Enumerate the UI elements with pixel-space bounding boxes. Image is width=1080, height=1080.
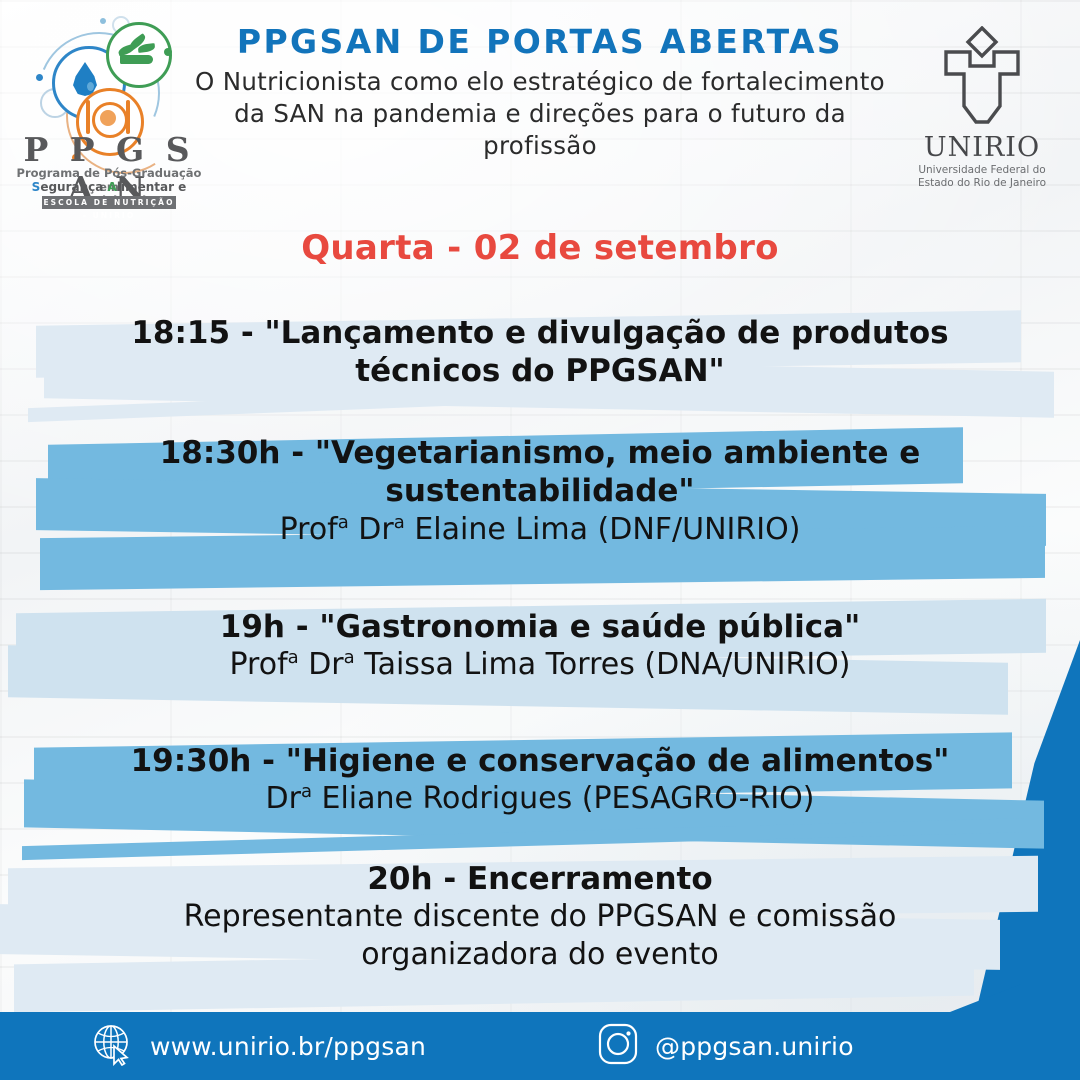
- plant-leaf-icon: [118, 36, 156, 68]
- instagram-label: @ppgsan.unirio: [655, 1032, 854, 1061]
- schedule-item-speaker: Profa Dra Taissa Lima Torres (DNA/UNIRIO…: [90, 646, 990, 683]
- schedule-item-speaker: Profa Dra Elaine Lima (DNF/UNIRIO): [90, 511, 990, 548]
- schedule-item-title: 18:30h - "Vegetarianismo, meio ambiente …: [90, 434, 990, 472]
- schedule-item: 18:15 - "Lançamento e divulgação de prod…: [0, 300, 1080, 426]
- schedule-item-text: 20h - EncerramentoRepresentante discente…: [90, 852, 990, 973]
- schedule-item-speaker: Dra Eliane Rodrigues (PESAGRO-RIO): [90, 780, 990, 817]
- event-poster: P P G S A N Programa de Pós-Graduação em…: [0, 0, 1080, 1080]
- fork-icon: [86, 100, 90, 134]
- poster-header: P P G S A N Programa de Pós-Graduação em…: [0, 0, 1080, 205]
- unirio-wordmark: UNIRIO: [902, 132, 1062, 163]
- knife-icon: [126, 100, 130, 134]
- schedule-item: 18:30h - "Vegetarianismo, meio ambiente …: [0, 426, 1080, 598]
- schedule-item-text: 18:15 - "Lançamento e divulgação de prod…: [90, 300, 990, 391]
- schedule-item-text: 19:30h - "Higiene e conservação de alime…: [90, 732, 990, 818]
- page-title: PPGSAN DE PORTAS ABERTAS: [190, 22, 890, 61]
- schedule-item-title: técnicos do PPGSAN": [90, 352, 990, 390]
- schedule-item-title: 19:30h - "Higiene e conservação de alime…: [90, 742, 990, 780]
- ppgsan-logo-school-bar: ESCOLA DE NUTRIÇÃO - UNIRIO: [42, 196, 176, 209]
- schedule-item-text: 19h - "Gastronomia e saúde pública"Profa…: [90, 598, 990, 684]
- unirio-sub-line2: Estado do Rio de Janeiro: [902, 177, 1062, 190]
- unirio-logo-subtitle: Universidade Federal do Estado do Rio de…: [902, 164, 1062, 191]
- schedule-list: 18:15 - "Lançamento e divulgação de prod…: [0, 300, 1080, 1004]
- schedule-item-title: 19h - "Gastronomia e saúde pública": [90, 608, 990, 646]
- website-link[interactable]: www.unirio.br/ppgsan: [92, 1022, 426, 1070]
- instagram-link[interactable]: @ppgsan.unirio: [597, 1021, 854, 1071]
- schedule-item-text: 18:30h - "Vegetarianismo, meio ambiente …: [90, 426, 990, 548]
- unirio-chalice-icon: [926, 26, 1038, 134]
- schedule-item-speaker: organizadora do evento: [90, 936, 990, 973]
- instagram-icon: [597, 1021, 639, 1071]
- schedule-item: 20h - EncerramentoRepresentante discente…: [0, 852, 1080, 1004]
- globe-cursor-icon: [92, 1022, 134, 1070]
- unirio-sub-line1: Universidade Federal do: [902, 164, 1062, 177]
- schedule-item: 19h - "Gastronomia e saúde pública"Profa…: [0, 598, 1080, 732]
- schedule-item-title: 20h - Encerramento: [90, 860, 990, 898]
- schedule-item: 19:30h - "Higiene e conservação de alime…: [0, 732, 1080, 852]
- ppgsan-logo: P P G S A N Programa de Pós-Graduação em…: [14, 14, 204, 200]
- poster-footer: www.unirio.br/ppgsan @ppgsan.unirio: [0, 1012, 1080, 1080]
- schedule-item-speaker: Representante discente do PPGSAN e comis…: [90, 898, 990, 935]
- website-label: www.unirio.br/ppgsan: [150, 1032, 426, 1061]
- date-heading: Quarta - 02 de setembro: [0, 228, 1080, 268]
- page-subtitle: O Nutricionista como elo estratégico de …: [195, 66, 885, 162]
- schedule-item-title: 18:15 - "Lançamento e divulgação de prod…: [90, 314, 990, 352]
- schedule-item-title: sustentabilidade": [90, 472, 990, 510]
- unirio-logo: UNIRIO Universidade Federal do Estado do…: [902, 20, 1062, 192]
